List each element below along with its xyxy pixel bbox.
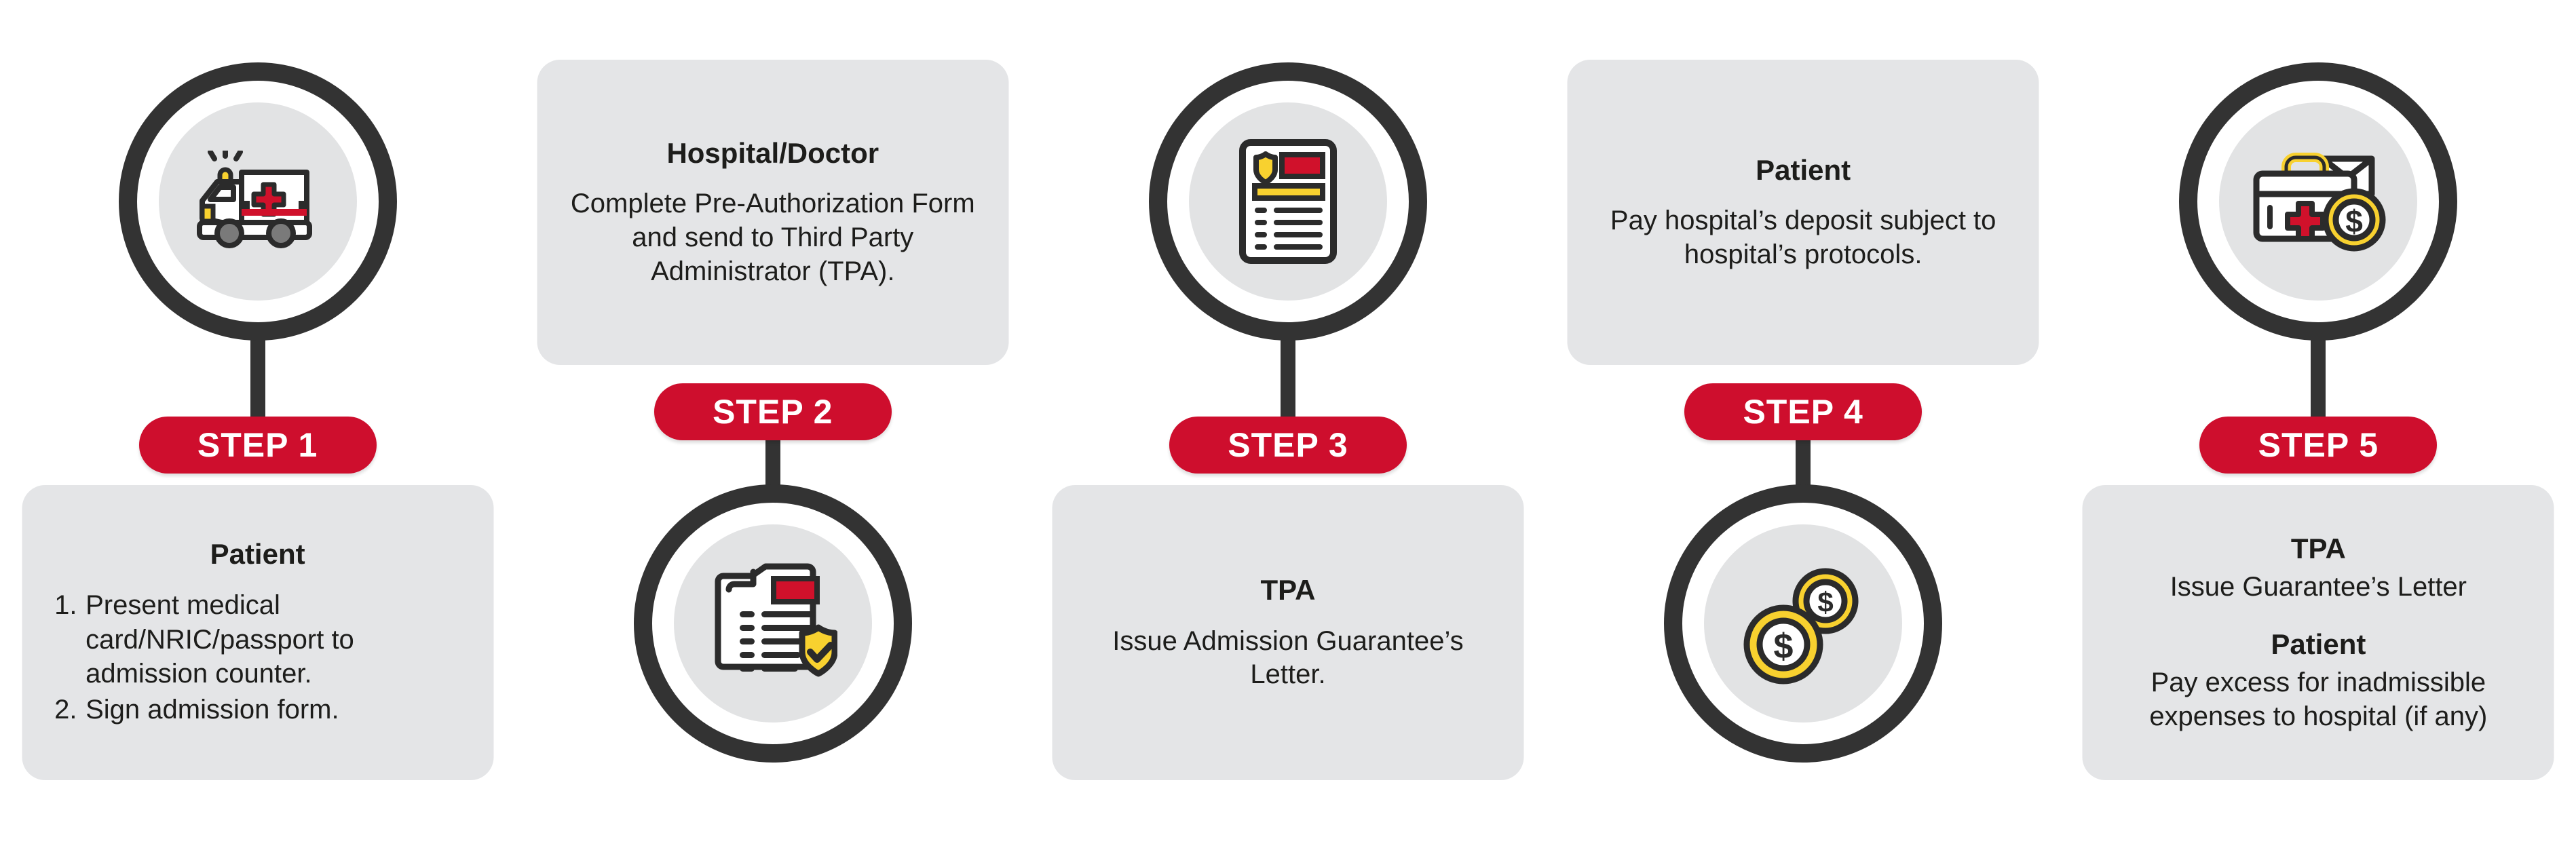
step-3-card-body: Issue Admission Guarantee’s Letter. [1072,625,1503,692]
step-1-icon-disc [159,102,357,301]
step-column-4: Patient Pay hospital’s deposit subject t… [1546,0,2061,848]
list-item: 1. Present medical card/NRIC/passport to… [54,588,473,691]
step-1-medallion [119,62,397,341]
step-1-badge[interactable]: STEP 1 [139,417,377,474]
step-5-card-body: Issue Guarantee’s Letter [2103,571,2534,604]
step-5-medallion: $ [2179,62,2457,341]
step-column-1: STEP 1 Patient 1. Present medical card/N… [0,0,515,848]
step-3-card-header: TPA [1072,573,1503,607]
step-3-medallion [1149,62,1427,341]
step-4-card: Patient Pay hospital’s deposit subject t… [1568,60,2039,365]
medical-kit-money-icon: $ [2247,144,2389,259]
step-5-card-body-2: Pay excess for inadmissible expenses to … [2103,666,2534,733]
coins-icon: $ $ [1739,559,1868,688]
step-5-card-header: TPA [2103,532,2534,566]
guarantee-letter-icon [1237,137,1339,266]
step-column-2: Hospital/Doctor Complete Pre-Authorizati… [515,0,1030,848]
step-2-medallion [634,484,912,763]
admission-process-flow: STEP 1 Patient 1. Present medical card/N… [0,0,2576,848]
ambulance-icon [190,151,326,252]
step-3-badge[interactable]: STEP 3 [1169,417,1407,474]
step-4-card-header: Patient [1588,153,2019,187]
step-1-instruction-list: 1. Present medical card/NRIC/passport to… [42,588,473,728]
step-column-5: $ STEP 5 TPA Issue Guarantee’s Letter Pa… [2061,0,2576,848]
svg-text:$: $ [1817,586,1833,618]
list-item-number: 1. [54,588,86,622]
step-5-connector [2311,334,2326,429]
list-item-text: Present medical card/NRIC/passport to ad… [86,588,473,691]
list-item-number: 2. [54,693,86,727]
step-4-medallion: $ $ [1664,484,1942,763]
svg-text:$: $ [1774,627,1794,666]
step-1-connector [250,334,265,429]
list-item-text: Sign admission form. [86,693,473,727]
step-2-card-body: Complete Pre-Authorization Form and send… [557,187,988,288]
step-3-card: TPA Issue Admission Guarantee’s Letter. [1052,485,1523,780]
step-5-card-header-2: Patient [2103,628,2534,661]
step-1-card: Patient 1. Present medical card/NRIC/pas… [22,485,493,780]
step-2-card: Hospital/Doctor Complete Pre-Authorizati… [537,60,1008,365]
step-5-icon-disc: $ [2219,102,2417,301]
step-3-connector [1281,334,1295,429]
step-5-secondary-block: Patient Pay excess for inadmissible expe… [2103,628,2534,734]
step-3-icon-disc [1189,102,1387,301]
svg-text:$: $ [2346,204,2364,239]
step-2-card-header: Hospital/Doctor [557,136,988,170]
step-1-card-header: Patient [42,537,473,571]
document-shield-icon [708,562,837,685]
step-4-icon-disc: $ $ [1704,524,1902,722]
list-item: 2. Sign admission form. [54,693,473,727]
step-5-badge[interactable]: STEP 5 [2199,417,2437,474]
step-5-card: TPA Issue Guarantee’s Letter Patient Pay… [2083,485,2554,780]
step-column-3: STEP 3 TPA Issue Admission Guarantee’s L… [1030,0,1545,848]
step-2-icon-disc [674,524,872,722]
step-4-badge[interactable]: STEP 4 [1684,383,1922,440]
step-4-card-body: Pay hospital’s deposit subject to hospit… [1588,204,2019,271]
step-2-badge[interactable]: STEP 2 [654,383,892,440]
